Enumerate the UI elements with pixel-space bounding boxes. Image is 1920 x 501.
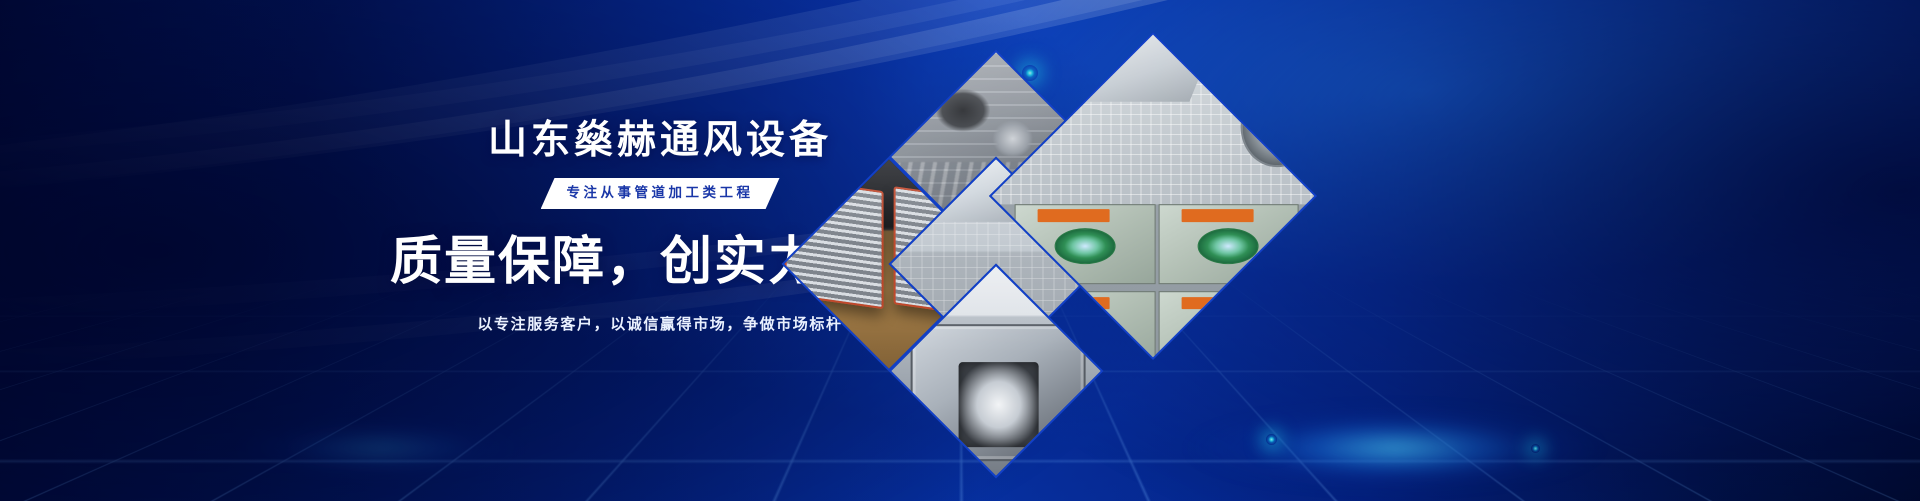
service-scope-badge: 专注从事管道加工类工程: [541, 178, 780, 209]
hero-banner: 山东燊赫通风设备 专注从事管道加工类工程 质量保障，创实力企业 以专注服务客户，…: [0, 0, 1920, 501]
diamond-photo-collage: [795, 42, 1245, 382]
